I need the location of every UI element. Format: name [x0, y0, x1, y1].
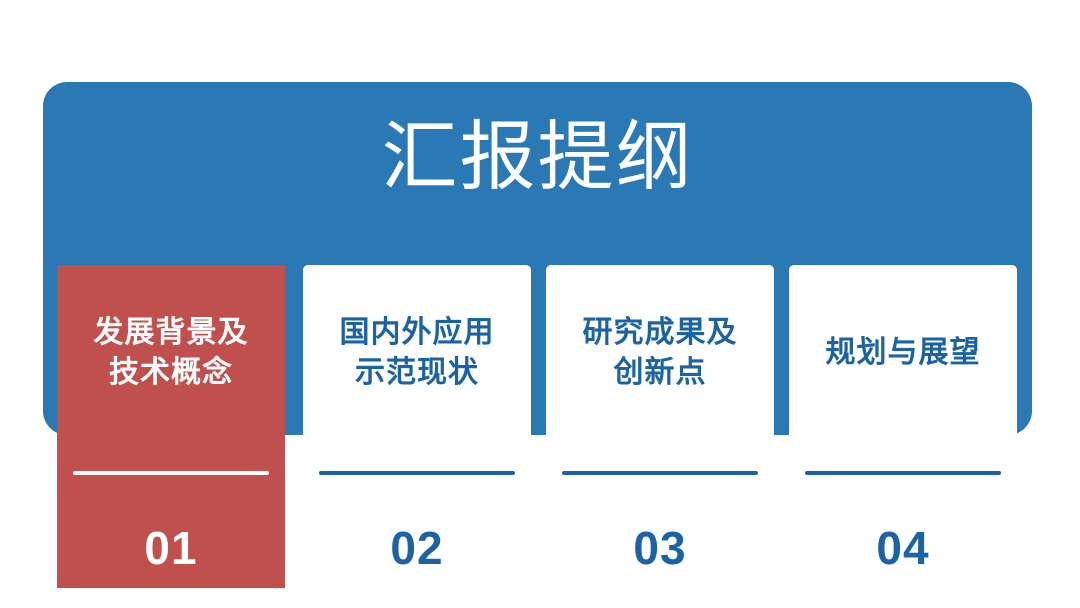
outline-card-01-number: 01 [57, 522, 285, 574]
outline-card-03[interactable]: 研究成果及 创新点 03 [546, 265, 774, 588]
outline-card-01-divider [73, 471, 269, 475]
outline-card-04-title: 规划与展望 [826, 333, 981, 373]
outline-card-04-footer: 04 [789, 440, 1017, 588]
outline-card-03-title: 研究成果及 创新点 [583, 313, 738, 393]
outline-card-02-body[interactable]: 国内外应用 示范现状 [303, 265, 531, 440]
outline-card-02[interactable]: 国内外应用 示范现状 02 [303, 265, 531, 588]
outline-card-04-number: 04 [789, 522, 1017, 574]
outline-card-03-number: 03 [546, 522, 774, 574]
outline-card-04[interactable]: 规划与展望 04 [789, 265, 1017, 588]
outline-card-02-number: 02 [303, 522, 531, 574]
outline-card-03-footer: 03 [546, 440, 774, 588]
outline-card-04-divider [805, 471, 1001, 475]
outline-card-01-body[interactable]: 发展背景及 技术概念 [57, 265, 285, 440]
outline-card-02-footer: 02 [303, 440, 531, 588]
outline-card-01[interactable]: 发展背景及 技术概念 01 [57, 265, 285, 588]
outline-card-01-footer: 01 [57, 440, 285, 588]
outline-card-02-divider [319, 471, 515, 475]
slide-canvas: 汇报提纲 发展背景及 技术概念 01 国内外应用 示范现状 02 [0, 0, 1080, 608]
outline-card-02-title: 国内外应用 示范现状 [340, 313, 495, 393]
outline-card-row: 发展背景及 技术概念 01 国内外应用 示范现状 02 研究成果及 创新点 [57, 265, 1023, 595]
page-title: 汇报提纲 [43, 110, 1032, 206]
outline-card-03-body[interactable]: 研究成果及 创新点 [546, 265, 774, 440]
outline-card-03-divider [562, 471, 758, 475]
outline-card-01-title: 发展背景及 技术概念 [94, 313, 249, 393]
outline-card-04-body[interactable]: 规划与展望 [789, 265, 1017, 440]
